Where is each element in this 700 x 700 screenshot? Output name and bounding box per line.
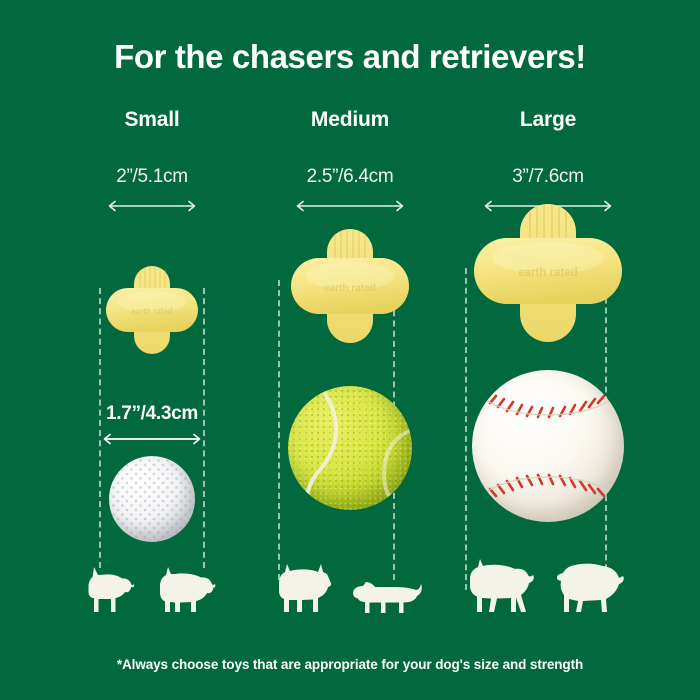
infographic-canvas: For the chasers and retrievers! Small 2”… (0, 0, 700, 700)
dog-silhouettes-small (52, 558, 252, 618)
footnote-text: *Always choose toys that are appropriate… (0, 657, 700, 672)
column-title-large: Large (448, 108, 648, 132)
column-medium: Medium 2.5”/6.4cm (250, 108, 450, 648)
dog-icon-dachshund (351, 572, 425, 618)
toy-medium: earth rated (284, 220, 416, 352)
column-small: Small 2”/5.1cm (52, 108, 252, 648)
column-large: Large 3”/7.6cm (448, 108, 648, 648)
golf-ball (109, 456, 195, 542)
width-arrow-medium (292, 200, 408, 212)
baseball (472, 370, 624, 522)
dog-silhouettes-medium (250, 558, 450, 618)
ball-measure-arrow-small (99, 433, 205, 445)
toy-small: earth rated (100, 258, 204, 362)
column-size-large: 3”/7.6cm (448, 166, 648, 188)
dog-icon-french-bulldog (275, 564, 337, 618)
guide-rail-left-medium (278, 280, 280, 580)
toy-large: earth rated (468, 196, 628, 350)
dog-icon-terrier (157, 566, 219, 618)
dog-icon-retriever (555, 558, 629, 616)
column-size-medium: 2.5”/6.4cm (250, 166, 450, 188)
tennis-ball (288, 386, 412, 510)
column-title-small: Small (52, 108, 252, 132)
width-arrow-small (104, 200, 200, 212)
column-title-medium: Medium (250, 108, 450, 132)
page-title: For the chasers and retrievers! (0, 38, 700, 76)
dog-silhouettes-large (448, 556, 648, 616)
dog-icon-chihuahua (85, 566, 143, 618)
toy-brand-label-medium: earth rated (324, 283, 376, 294)
guide-rail-left-large (465, 268, 467, 590)
toy-brand-label-large: earth rated (518, 267, 577, 279)
ball-measure-small: 1.7”/4.3cm (52, 403, 252, 425)
toy-brand-label-small: earth rated (131, 307, 172, 316)
dog-icon-boxer (467, 558, 541, 616)
column-size-small: 2”/5.1cm (52, 166, 252, 188)
